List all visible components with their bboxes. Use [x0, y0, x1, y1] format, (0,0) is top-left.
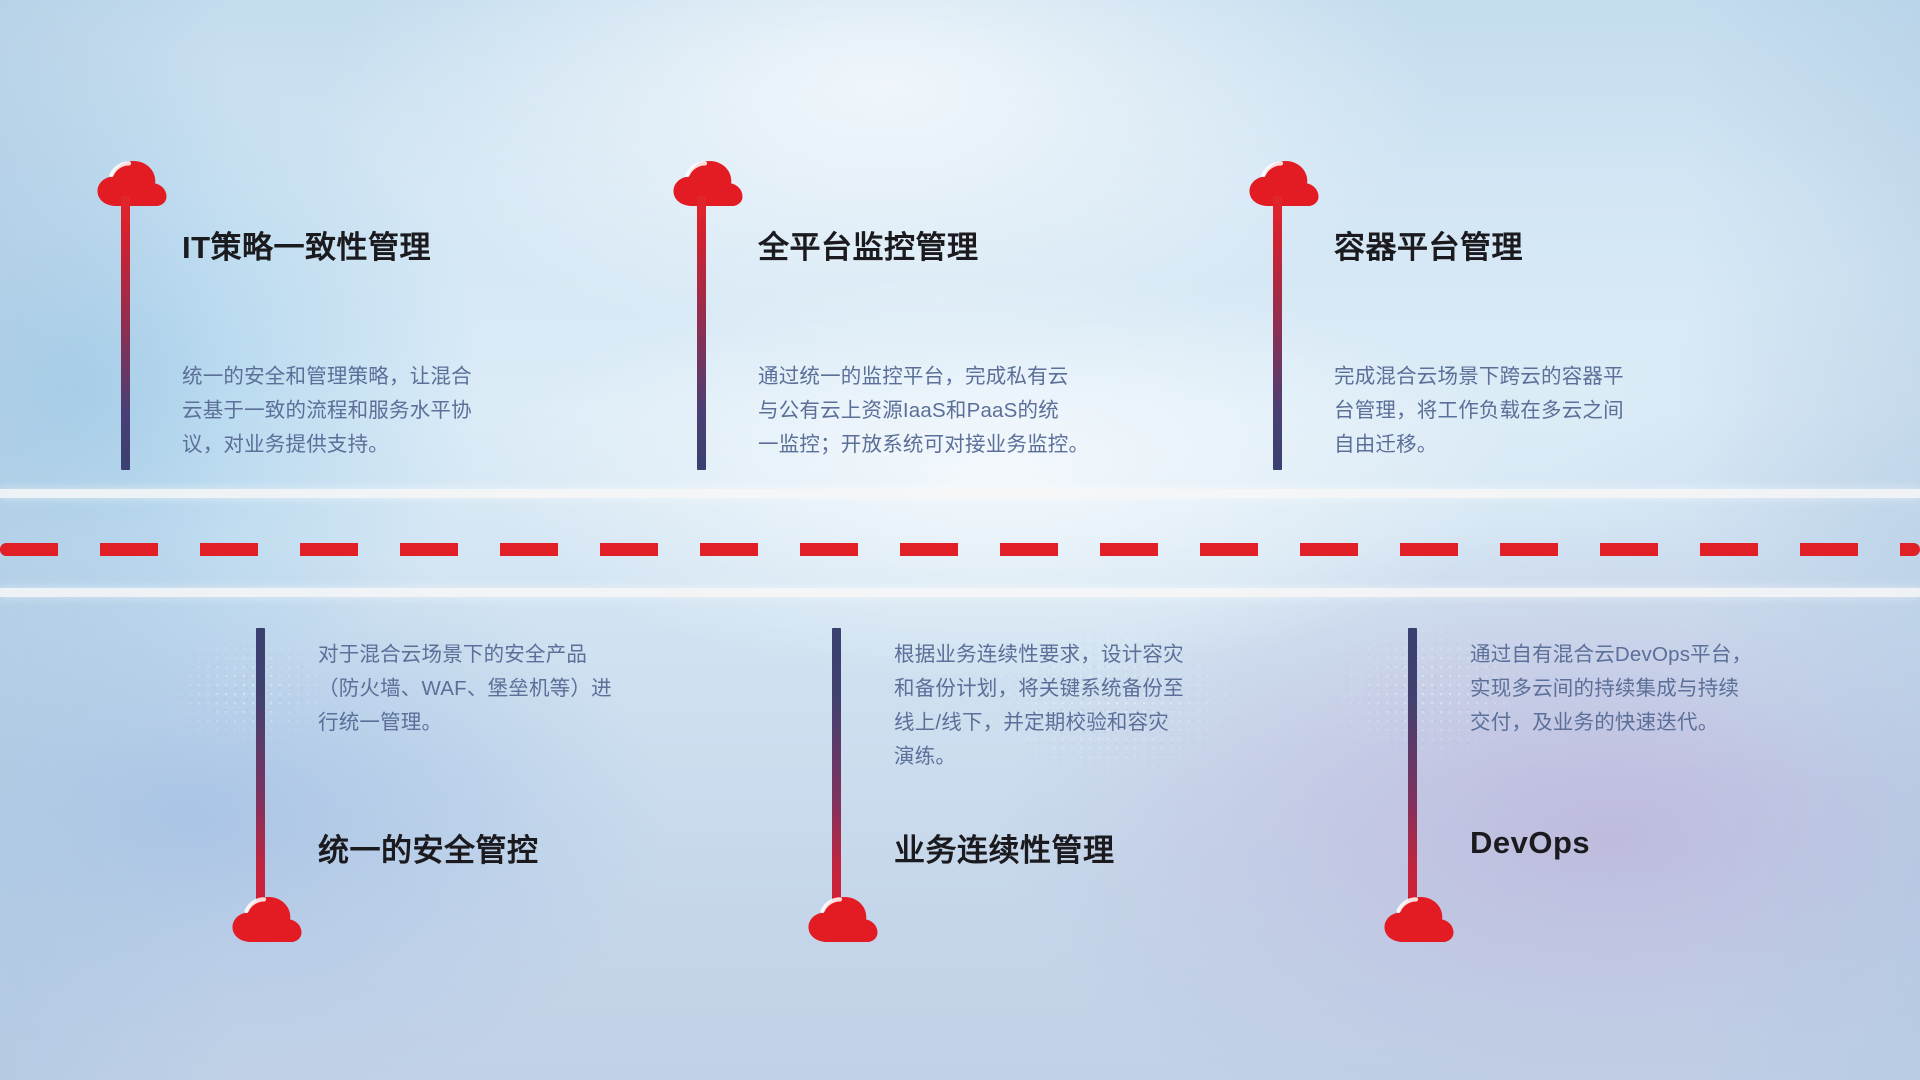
- infographic-canvas: IT策略一致性管理 统一的安全和管理策略，让混合 云基于一致的流程和服务水平协 …: [0, 0, 1920, 1080]
- column-title: DevOps: [1470, 825, 1590, 861]
- divider-rule-lower: [0, 588, 1920, 597]
- connector-stem: [697, 196, 706, 470]
- connector-stem: [1408, 628, 1417, 908]
- cloud-icon: [96, 160, 168, 208]
- cloud-icon: [1248, 160, 1320, 208]
- connector-stem: [1273, 196, 1282, 470]
- column-body-text: 通过统一的监控平台，完成私有云 与公有云上资源IaaS和PaaS的统 一监控；开…: [758, 360, 1198, 462]
- column-body-text: 完成混合云场景下跨云的容器平 台管理，将工作负载在多云之间 自由迁移。: [1334, 360, 1764, 462]
- column-title: 全平台监控管理: [758, 222, 979, 267]
- connector-stem: [256, 628, 265, 908]
- column-title: 统一的安全管控: [318, 825, 539, 870]
- connector-stem: [832, 628, 841, 908]
- cloud-icon: [231, 896, 303, 944]
- connector-stem: [121, 196, 130, 470]
- column-title: 容器平台管理: [1334, 222, 1523, 267]
- column-body-text: 统一的安全和管理策略，让混合 云基于一致的流程和服务水平协 议，对业务提供支持。: [182, 360, 612, 462]
- cloud-icon: [672, 160, 744, 208]
- cloud-icon: [807, 896, 879, 944]
- divider-dashed-red: [0, 543, 1920, 556]
- column-title: 业务连续性管理: [894, 825, 1115, 870]
- divider-rule-upper: [0, 489, 1920, 498]
- column-title: IT策略一致性管理: [182, 222, 431, 267]
- column-body-text: 对于混合云场景下的安全产品 （防火墙、WAF、堡垒机等）进 行统一管理。: [318, 638, 748, 740]
- column-body-text: 通过自有混合云DevOps平台， 实现多云间的持续集成与持续 交付，及业务的快速…: [1470, 638, 1900, 740]
- cloud-icon: [1383, 896, 1455, 944]
- column-body-text: 根据业务连续性要求，设计容灾 和备份计划，将关键系统备份至 线上/线下，并定期校…: [894, 638, 1334, 774]
